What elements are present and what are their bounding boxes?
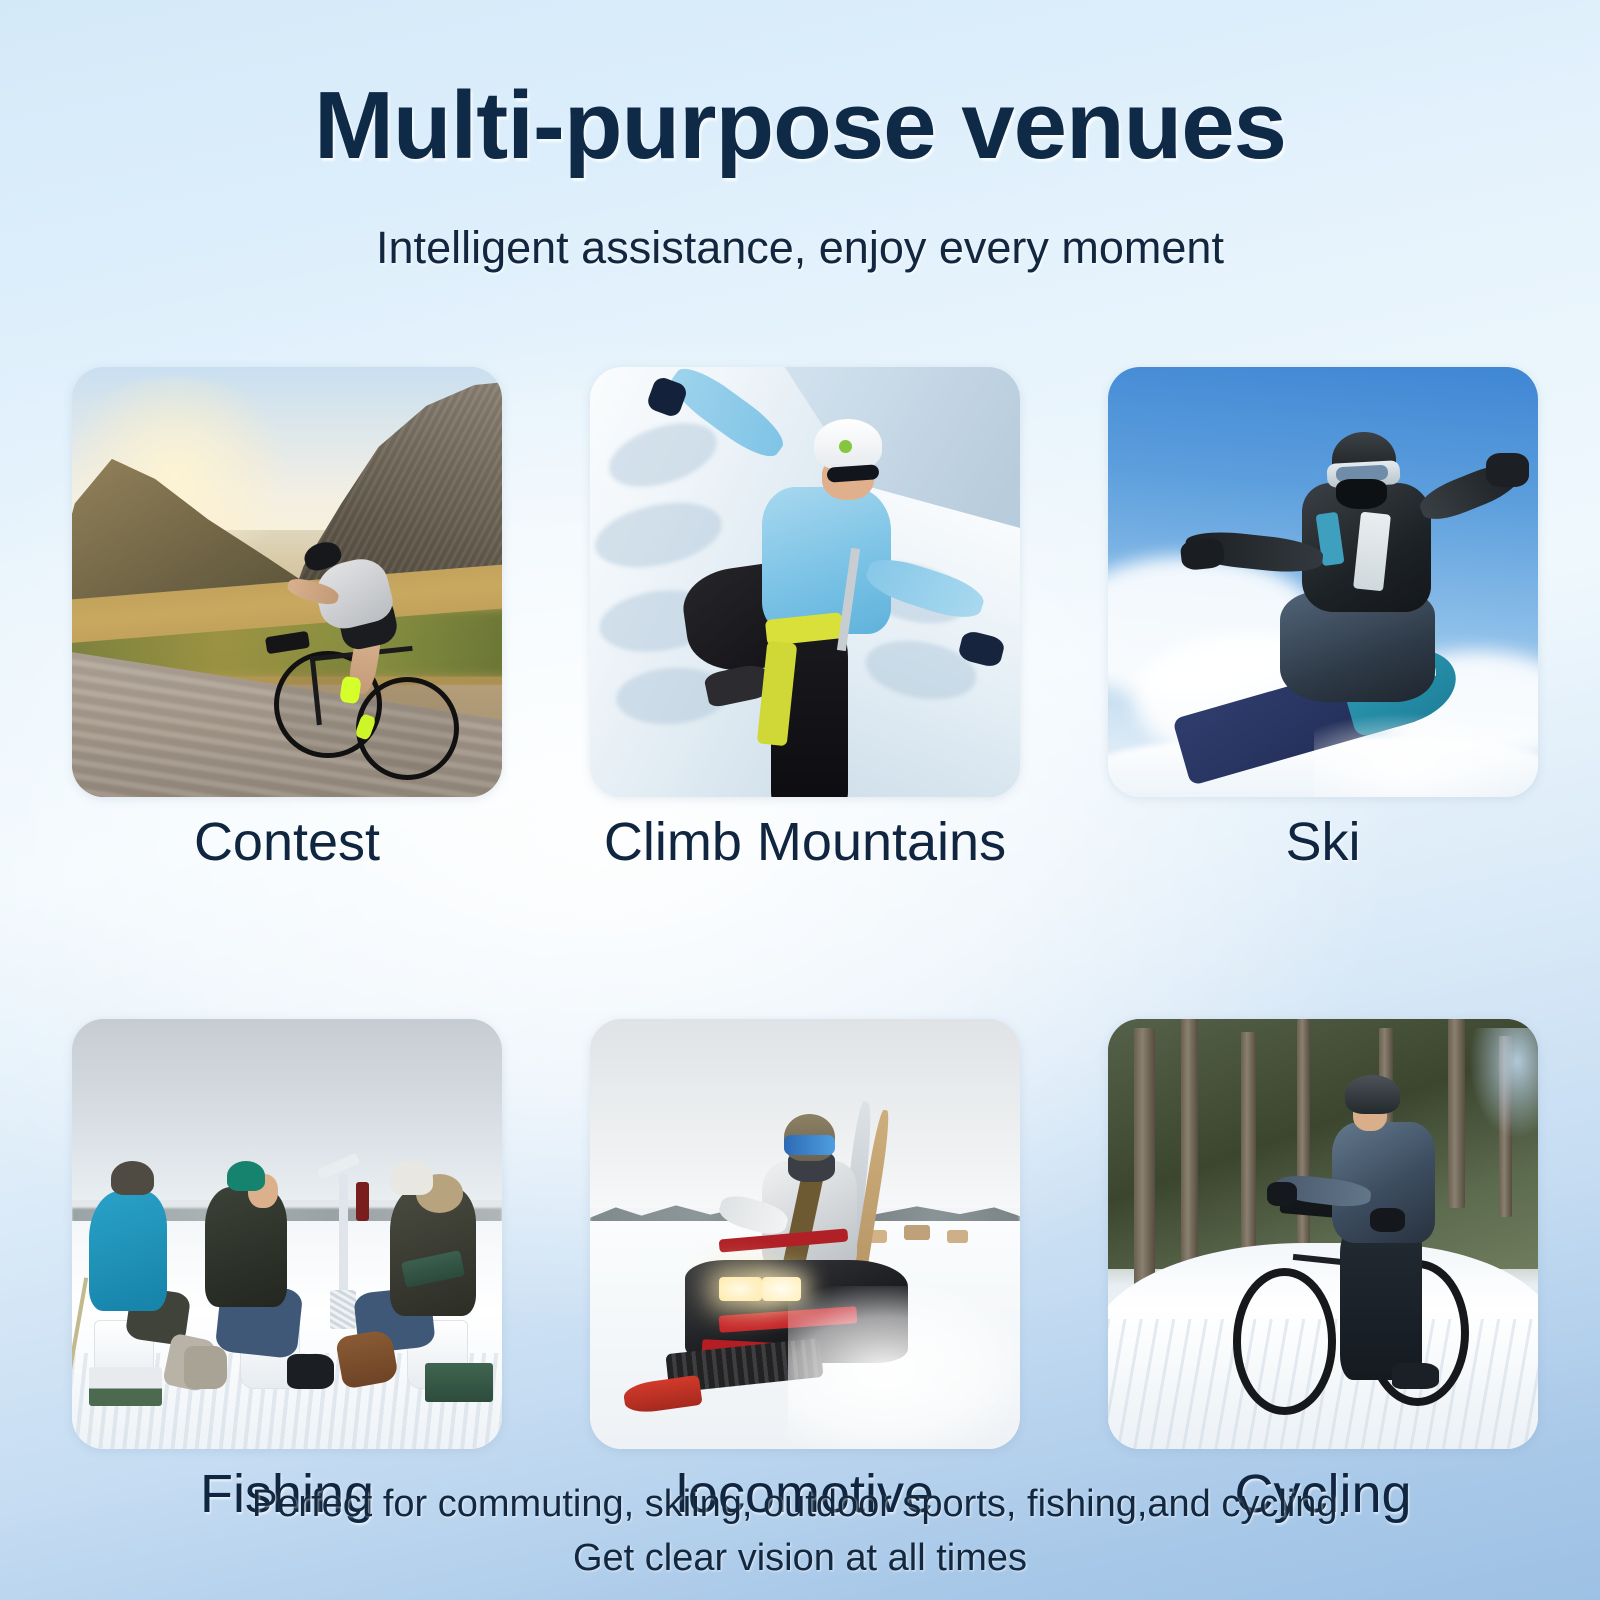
venue-card-cycling[interactable]: Cycling [1108,1019,1538,1525]
header: Multi-purpose venues Intelligent assista… [0,0,1600,274]
scene-ice-climber [590,367,1020,797]
venue-image-locomotive[interactable] [590,1019,1020,1449]
footer-line-2: Get clear vision at all times [0,1532,1600,1586]
venue-card-climb-mountains[interactable]: Climb Mountains [590,367,1020,873]
scene-ice-fishing [72,1019,502,1449]
venue-card-locomotive[interactable]: locomotive [590,1019,1020,1525]
scene-road-cyclist [72,367,502,797]
venue-image-climb-mountains[interactable] [590,367,1020,797]
footer: Perfect for commuting, skiing, outdoor s… [0,1478,1600,1586]
venue-image-fishing[interactable] [72,1019,502,1449]
venue-grid: Contest [72,367,1550,1525]
page-subtitle: Intelligent assistance, enjoy every mome… [0,174,1600,274]
venue-image-contest[interactable] [72,367,502,797]
venue-label-ski: Ski [1108,797,1538,873]
scene-snowmobile [590,1019,1020,1449]
venue-image-cycling[interactable] [1108,1019,1538,1449]
venue-label-contest: Contest [72,797,502,873]
footer-line-1: Perfect for commuting, skiing, outdoor s… [0,1478,1600,1532]
venue-image-ski[interactable]: Venem [1108,367,1538,797]
scene-snow-cycling [1108,1019,1538,1449]
venue-card-ski[interactable]: Venem Ski [1108,367,1538,873]
venue-card-contest[interactable]: Contest [72,367,502,873]
venue-label-climb-mountains: Climb Mountains [590,797,1020,873]
venue-card-fishing[interactable]: Fishing [72,1019,502,1525]
scene-snowboarder: Venem [1108,367,1538,797]
page-title: Multi-purpose venues [0,0,1600,174]
